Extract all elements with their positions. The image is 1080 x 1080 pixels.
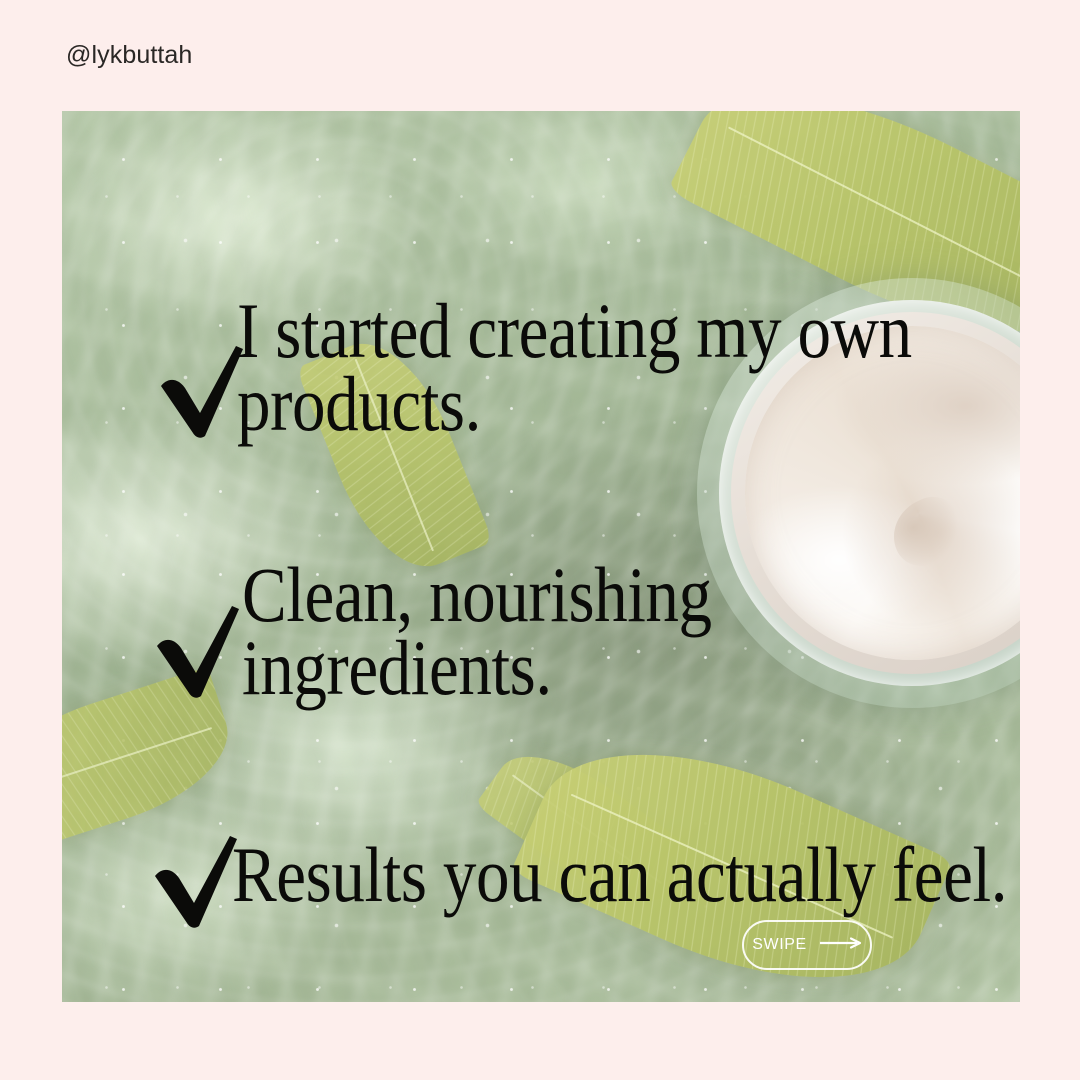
post-image: I started creating my own products. Clea… bbox=[62, 111, 1020, 1002]
checkmark-icon bbox=[154, 603, 246, 704]
bullet-text-3: Results you can actually feel. bbox=[232, 839, 1020, 912]
swipe-label: SWIPE bbox=[752, 936, 807, 954]
checkmark-icon bbox=[152, 833, 244, 934]
swipe-button[interactable]: SWIPE bbox=[742, 920, 872, 970]
account-handle: @lykbuttah bbox=[66, 41, 192, 70]
bullet-text-2: Clean, nourishing ingredients. bbox=[242, 559, 844, 704]
arrow-right-icon bbox=[820, 936, 862, 954]
bullet-text-1: I started creating my own products. bbox=[237, 295, 1011, 440]
cream-swirl bbox=[882, 488, 972, 575]
